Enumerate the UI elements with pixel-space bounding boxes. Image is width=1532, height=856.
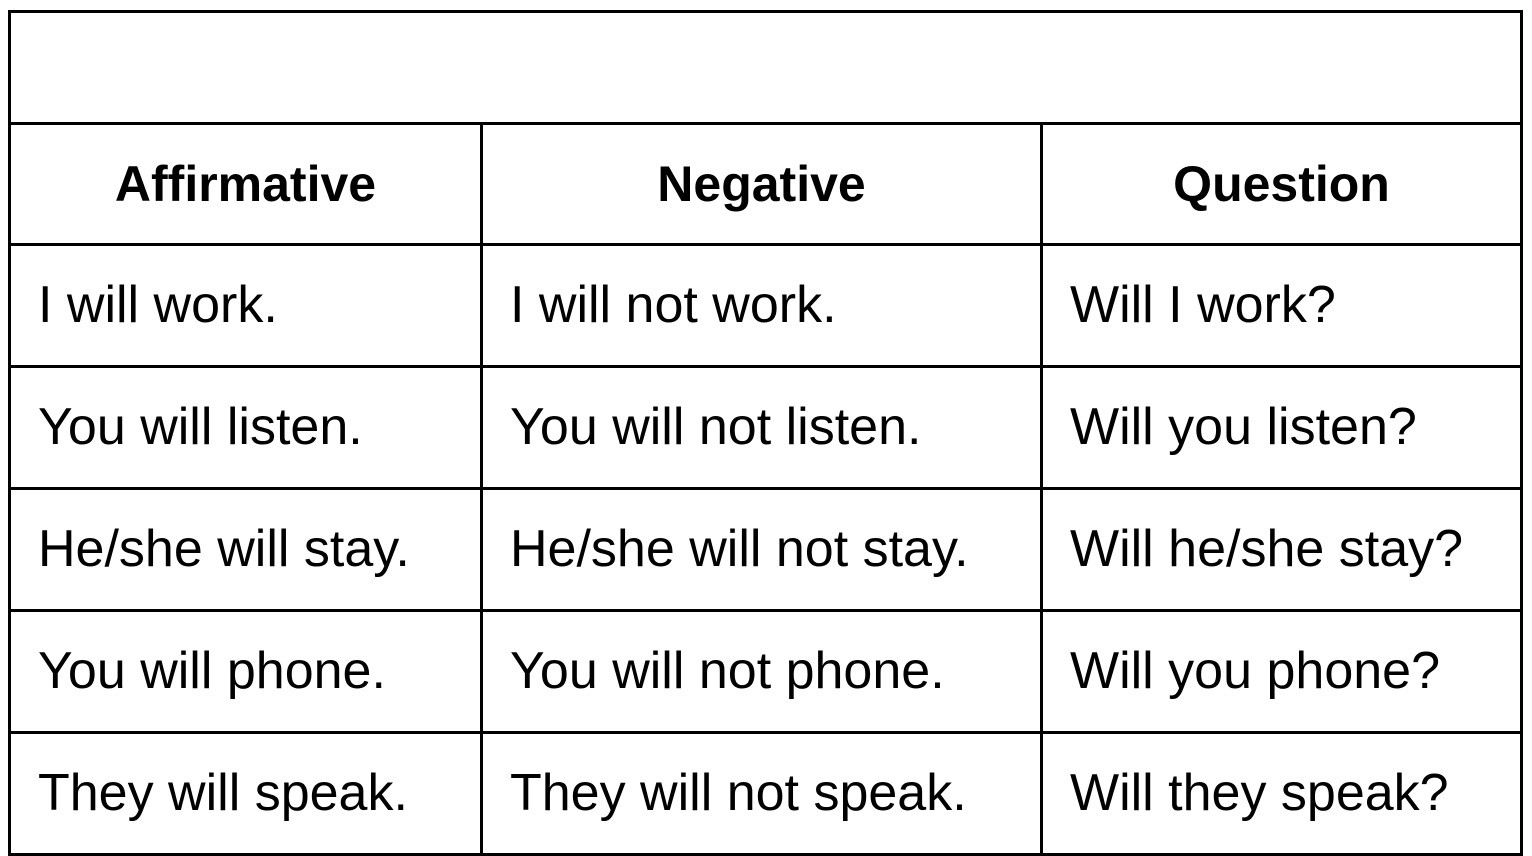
cell-negative: You will not phone. [482, 611, 1042, 733]
title-row: Future simple [10, 12, 1522, 124]
table-row: They will speak. They will not speak. Wi… [10, 733, 1522, 855]
page-root: Future simple Affirmative Negative Quest… [0, 0, 1532, 856]
cell-text: He/she will stay. [11, 521, 480, 578]
cell-text: Will I work? [1043, 277, 1520, 334]
cell-negative: He/she will not stay. [482, 489, 1042, 611]
future-simple-table: Future simple Affirmative Negative Quest… [8, 10, 1523, 856]
cell-question: Will you listen? [1042, 367, 1522, 489]
cell-text: You will phone. [11, 643, 480, 700]
column-header-label: Negative [483, 158, 1040, 211]
cell-negative: They will not speak. [482, 733, 1042, 855]
cell-affirmative: I will work. [10, 245, 482, 367]
cell-question: Will they speak? [1042, 733, 1522, 855]
cell-affirmative: You will listen. [10, 367, 482, 489]
column-header-negative: Negative [482, 124, 1042, 245]
cell-negative: I will not work. [482, 245, 1042, 367]
table-title-cell: Future simple [10, 12, 1522, 124]
cell-negative: You will not listen. [482, 367, 1042, 489]
table-row: I will work. I will not work. Will I wor… [10, 245, 1522, 367]
cell-affirmative: You will phone. [10, 611, 482, 733]
cell-affirmative: He/she will stay. [10, 489, 482, 611]
cell-affirmative: They will speak. [10, 733, 482, 855]
table-row: You will phone. You will not phone. Will… [10, 611, 1522, 733]
table-row: You will listen. You will not listen. Wi… [10, 367, 1522, 489]
table-body: I will work. I will not work. Will I wor… [10, 245, 1522, 855]
column-header-row: Affirmative Negative Question [10, 124, 1522, 245]
column-header-question: Question [1042, 124, 1522, 245]
cell-text: He/she will not stay. [483, 521, 1040, 578]
table-head: Future simple Affirmative Negative Quest… [10, 12, 1522, 245]
cell-text: You will not phone. [483, 643, 1040, 700]
cell-question: Will you phone? [1042, 611, 1522, 733]
table-row: He/she will stay. He/she will not stay. … [10, 489, 1522, 611]
column-header-label: Question [1043, 158, 1520, 211]
column-header-label: Affirmative [11, 158, 480, 211]
cell-text: You will not listen. [483, 399, 1040, 456]
cell-text: Will you listen? [1043, 399, 1520, 456]
cell-text: They will speak. [11, 765, 480, 822]
cell-text: I will work. [11, 277, 480, 334]
cell-text: Will they speak? [1043, 765, 1520, 822]
cell-question: Will he/she stay? [1042, 489, 1522, 611]
cell-text: I will not work. [483, 277, 1040, 334]
cell-text: Will you phone? [1043, 643, 1520, 700]
cell-text: You will listen. [11, 399, 480, 456]
cell-question: Will I work? [1042, 245, 1522, 367]
cell-text: They will not speak. [483, 765, 1040, 822]
column-header-affirmative: Affirmative [10, 124, 482, 245]
page-title: Future simple [11, 40, 1520, 95]
cell-text: Will he/she stay? [1043, 521, 1520, 578]
